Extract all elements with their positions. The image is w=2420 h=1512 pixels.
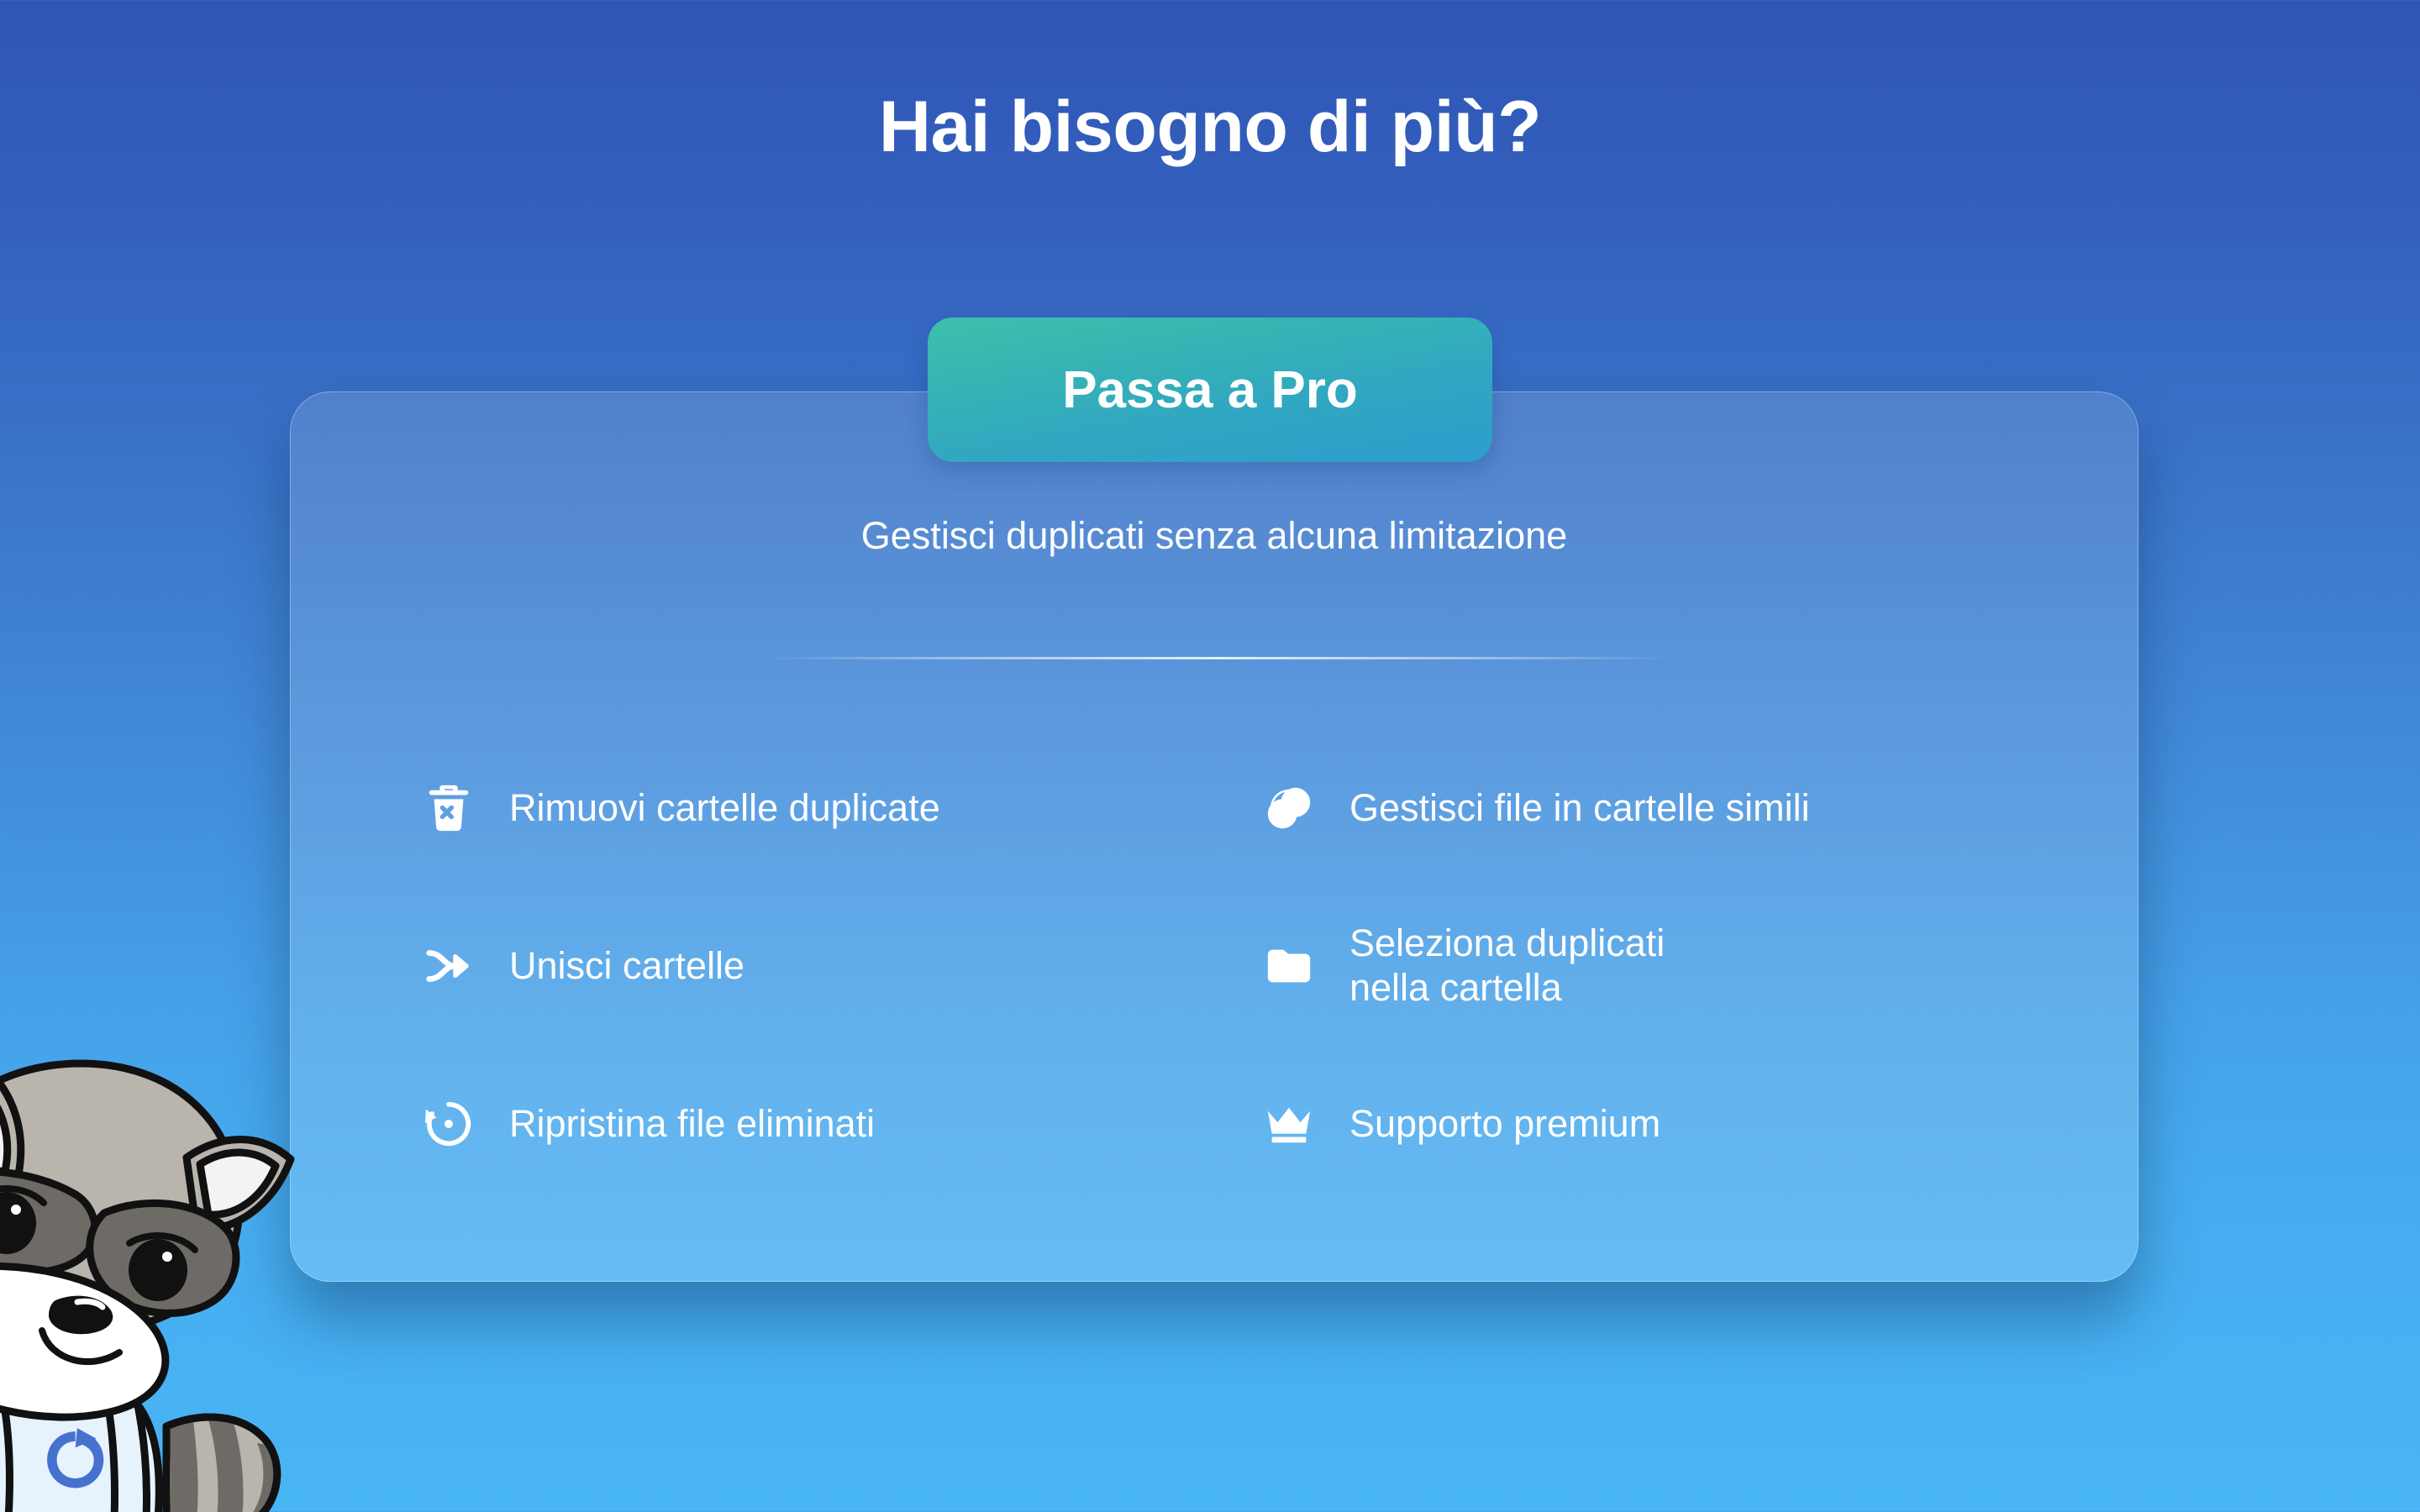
crown-icon <box>1260 1095 1318 1152</box>
raccoon-mascot <box>0 1032 324 1512</box>
feature-item-premium-support: Supporto premium <box>1252 1045 2017 1203</box>
feature-item-select-duplicates-in-folder: Seleziona duplicati nella cartella <box>1252 887 2017 1045</box>
page-title: Hai bisogno di più? <box>0 91 2420 163</box>
card-subtitle: Gestisci duplicati senza alcuna limitazi… <box>290 514 2139 558</box>
feature-item-remove-duplicate-folders: Rimuovi cartelle duplicate <box>420 729 1252 887</box>
feature-item-manage-similar-folders: Gestisci file in cartelle simili <box>1252 729 2017 887</box>
restore-icon <box>420 1095 477 1152</box>
feature-item-restore-deleted-files: Ripristina file eliminati <box>420 1045 1252 1203</box>
trash-delete-icon <box>420 780 477 837</box>
upgrade-to-pro-button[interactable]: Passa a Pro <box>928 318 1492 462</box>
feature-label: Supporto premium <box>1349 1102 1660 1147</box>
feature-label: Ripristina file eliminati <box>509 1102 875 1147</box>
feature-item-merge-folders: Unisci cartelle <box>420 887 1252 1045</box>
overlapping-circles-icon <box>1260 780 1318 837</box>
feature-list: Rimuovi cartelle duplicate <box>420 729 2017 1203</box>
feature-label: Gestisci file in cartelle simili <box>1349 786 1810 831</box>
feature-label: Rimuovi cartelle duplicate <box>509 786 940 831</box>
feature-label: Seleziona duplicati nella cartella <box>1349 921 1665 1010</box>
merge-arrow-icon <box>420 937 477 995</box>
feature-label: Unisci cartelle <box>509 944 744 989</box>
folder-icon <box>1260 937 1318 995</box>
divider <box>773 657 1664 659</box>
